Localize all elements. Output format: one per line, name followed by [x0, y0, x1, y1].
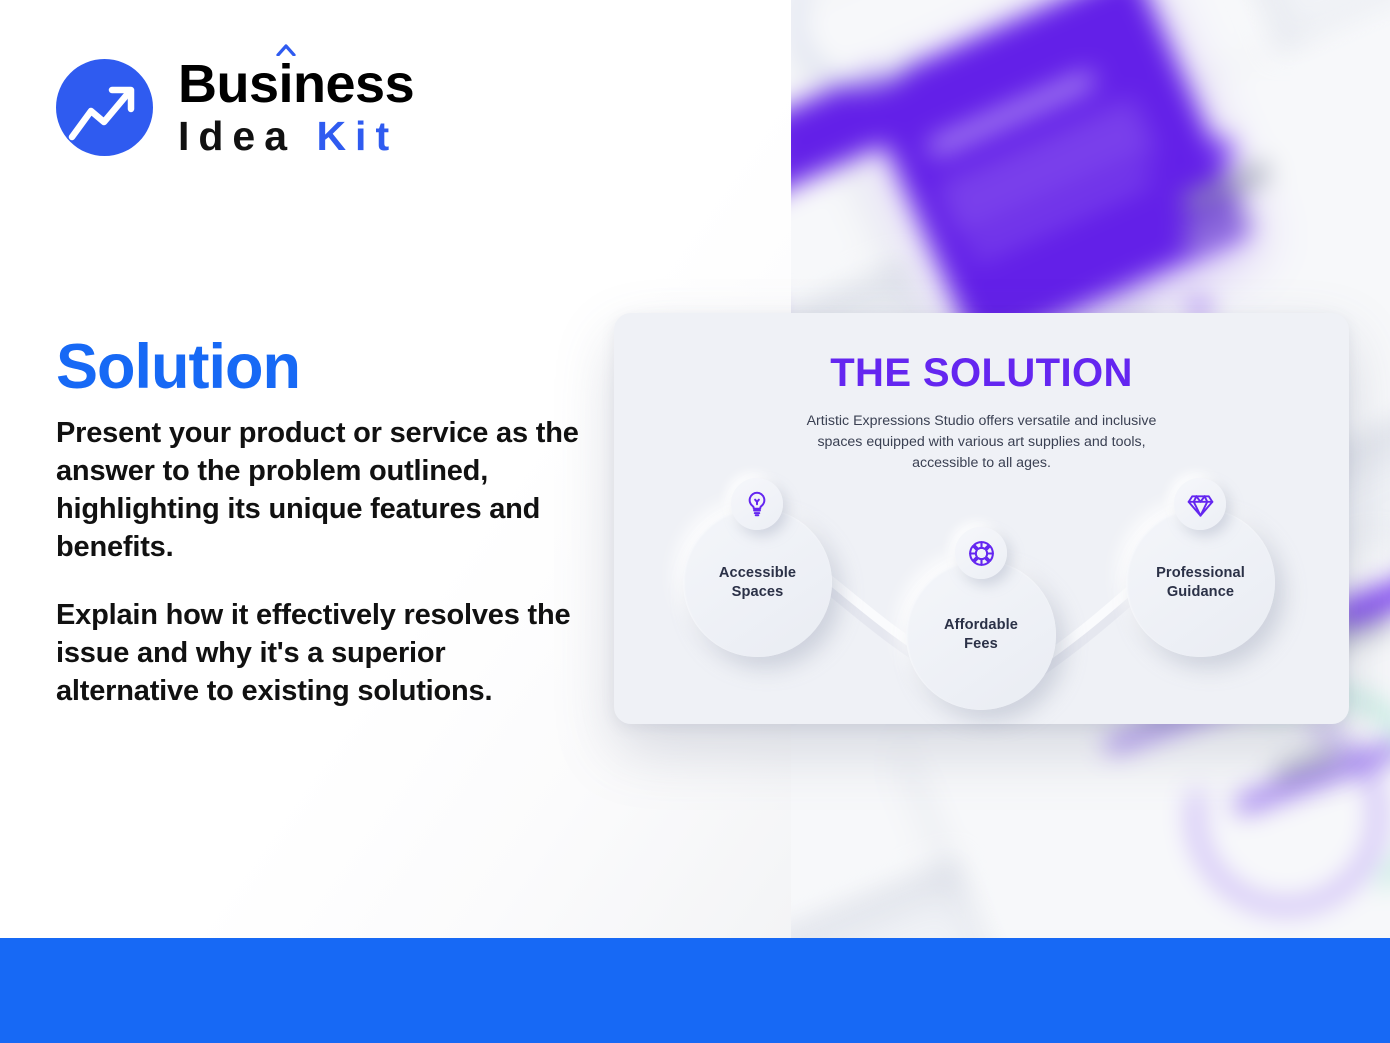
pillar-label-line-1: Affordable [944, 617, 1018, 633]
lifebuoy-icon [955, 527, 1007, 579]
growth-arrow-circle-icon [56, 59, 153, 156]
pillar-label-line-2: Spaces [732, 584, 784, 600]
pillar-bubble[interactable]: Professional Guidance [1126, 508, 1275, 657]
pillar-label-line-2: Fees [964, 636, 998, 652]
footer-bar [0, 938, 1390, 1043]
pillar-label-line-1: Accessible [719, 565, 796, 581]
pillar-bubble[interactable]: Affordable Fees [906, 560, 1056, 710]
card-title: THE SOLUTION [614, 353, 1349, 393]
pillar-label: Affordable Fees [944, 616, 1018, 653]
pillar-label: Accessible Spaces [719, 564, 796, 601]
body-paragraph-1: Present your product or service as the a… [56, 415, 586, 567]
pillar-label-line-1: Professional [1156, 565, 1245, 581]
pillar-label: Professional Guidance [1156, 564, 1245, 601]
diamond-icon [1174, 478, 1226, 530]
pillar-bubble[interactable]: Accessible Spaces [683, 508, 832, 657]
brand-name-i: i [279, 57, 294, 111]
body-paragraph-2: Explain how it effectively resolves the … [56, 597, 586, 711]
chevron-up-accent-icon [276, 44, 296, 56]
card-subtitle: Artistic Expressions Studio offers versa… [804, 411, 1159, 474]
brand-name-pre: Bus [178, 54, 279, 114]
brand-logo[interactable]: Business Idea Kit [56, 57, 414, 157]
brand-name-line-2: Idea Kit [178, 116, 414, 157]
slide-root: Business Idea Kit Solution Present your … [0, 0, 1390, 1043]
brand-idea-text: Idea [178, 113, 296, 159]
body-copy: Present your product or service as the a… [56, 415, 586, 711]
page-title: Solution [56, 334, 300, 400]
pillar-label-line-2: Guidance [1167, 584, 1234, 600]
brand-kit-text: Kit [316, 113, 398, 159]
lightbulb-icon [731, 478, 783, 530]
brand-name-line-1: Business [178, 57, 414, 111]
brand-name-post: ness [293, 54, 414, 114]
brand-wordmark: Business Idea Kit [178, 57, 414, 157]
